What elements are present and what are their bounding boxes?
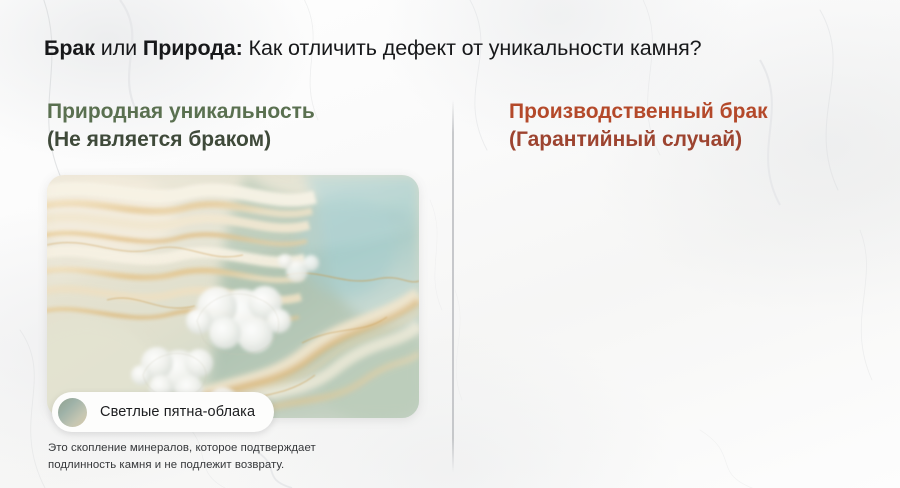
badge-natural-label: Светлые пятна-облака xyxy=(100,404,255,420)
caption-natural-line1: Это скопление минералов, которое подтвер… xyxy=(48,440,316,457)
column-natural: Природная уникальность (Не является брак… xyxy=(0,0,452,488)
onyx-natural-image xyxy=(47,175,419,418)
gradient-dot-icon xyxy=(58,398,87,427)
heading-defect: Производственный брак (Гарантийный случа… xyxy=(509,98,768,154)
caption-natural-line2: подлинность камня и не подлежит возврату… xyxy=(48,457,316,474)
photo-card-natural xyxy=(47,175,419,418)
heading-natural-line2: (Не является браком) xyxy=(47,126,315,154)
caption-natural: Это скопление минералов, которое подтвер… xyxy=(48,440,316,473)
infographic-page: Брак или Природа: Как отличить дефект от… xyxy=(0,0,900,488)
heading-natural: Природная уникальность (Не является брак… xyxy=(47,98,315,154)
heading-defect-line2: (Гарантийный случай) xyxy=(509,126,768,154)
badge-natural[interactable]: Светлые пятна-облака xyxy=(52,392,274,432)
heading-defect-line1: Производственный брак xyxy=(509,98,768,126)
column-defect: Производственный брак (Гарантийный случа… xyxy=(452,0,900,488)
heading-natural-line1: Природная уникальность xyxy=(47,98,315,126)
